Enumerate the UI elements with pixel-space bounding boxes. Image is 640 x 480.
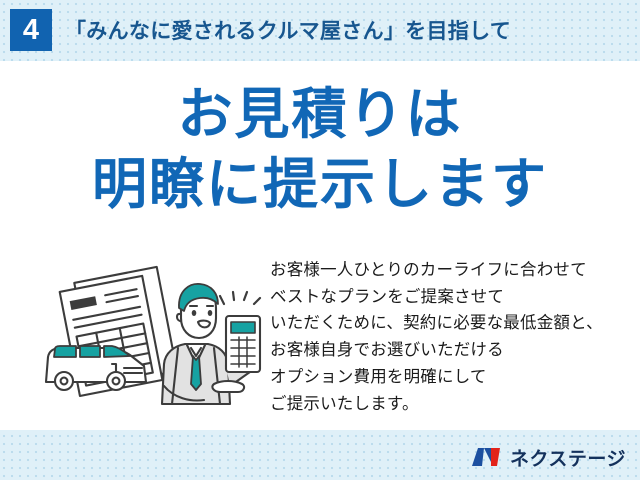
sparkle-icon xyxy=(220,292,260,304)
headline-line-2: 明瞭に提示します xyxy=(0,149,640,219)
nextage-n-mark-icon xyxy=(469,445,503,469)
headline: お見積りは 明瞭に提示します xyxy=(0,79,640,220)
body-copy-line-1: お客様一人ひとりのカーライフに合わせて xyxy=(270,257,630,284)
illustration-svg xyxy=(38,256,274,421)
calculator-icon xyxy=(226,316,260,372)
body-copy-line-4: お客様自身でお選びいただける xyxy=(270,337,630,364)
body-copy-line-2: ベストなプランをご提案させて xyxy=(270,284,630,311)
illustration xyxy=(38,256,274,421)
body-copy-line-6: ご提示いたします。 xyxy=(270,391,630,418)
body-copy-line-5: オプション費用を明確にして xyxy=(270,364,630,391)
content-panel: お見積りは 明瞭に提示します お客様一人ひとりのカーライフに合わせて ベストなプ… xyxy=(0,61,640,430)
body-copy-line-3: いただくために、契約に必要な最低金額と、 xyxy=(270,310,630,337)
slide-root: 4 「みんなに愛されるクルマ屋さん」を目指して お見積りは 明瞭に提示します お… xyxy=(0,0,640,480)
section-number-badge: 4 xyxy=(10,9,52,51)
brand-logo: ネクステージ xyxy=(469,442,626,472)
body-copy: お客様一人ひとりのカーライフに合わせて ベストなプランをご提案させて いただくた… xyxy=(270,257,630,417)
header-title: 「みんなに愛されるクルマ屋さん」を目指して xyxy=(65,15,511,45)
header-bar: 4 「みんなに愛されるクルマ屋さん」を目指して xyxy=(0,0,640,60)
brand-name: ネクステージ xyxy=(510,444,626,471)
headline-line-1: お見積りは xyxy=(0,79,640,149)
